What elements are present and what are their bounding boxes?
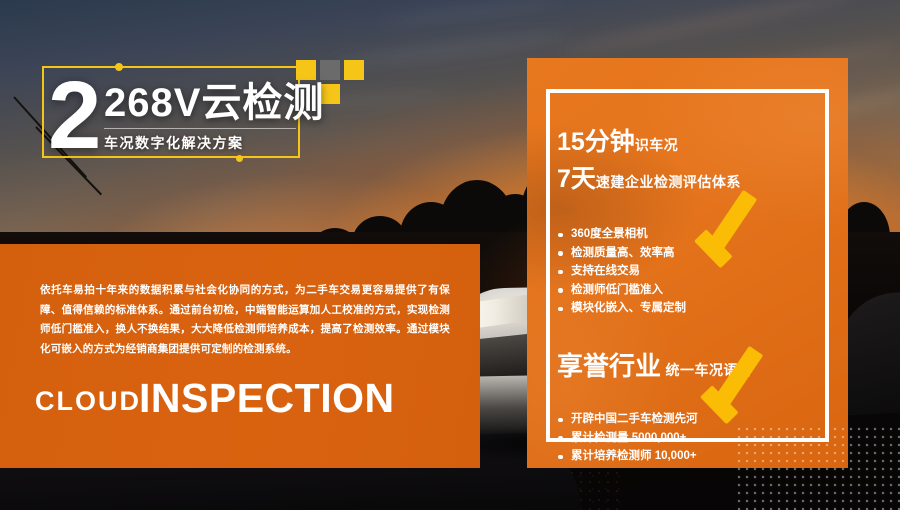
section2-bullet-list: 开辟中国二手车检测先河 累计检测量 5000,000+ 累计培养检测师 10,0… [558, 410, 698, 468]
list-item: 360度全景相机 [558, 225, 686, 244]
list-item: 支持在线交易 [558, 262, 686, 281]
slide-canvas: 2 268V云检测 车况数字化解决方案 依托车易拍十年来的数据积累与社会化协同的… [0, 0, 900, 510]
section-number: 2 [48, 68, 99, 164]
right-orange-panel: 15分钟识车况 7天速建企业检测评估体系 360度全景相机 检测质量高、效率高 … [527, 58, 848, 468]
page-subtitle: 车况数字化解决方案 [104, 133, 244, 153]
headline-secondary: 速建企业检测评估体系 [596, 174, 741, 190]
list-item: 累计检测量 5000,000+ [558, 429, 698, 448]
decorative-square [344, 60, 364, 80]
title-frame-border [222, 66, 300, 68]
decorative-square [320, 60, 340, 80]
list-item: 模块化嵌入、专属定制 [558, 299, 686, 318]
section1-bullet-list: 360度全景相机 检测质量高、效率高 支持在线交易 检测师低门槛准入 模块化嵌入… [558, 225, 686, 318]
list-item: 检测师低门槛准入 [558, 281, 686, 300]
section2-headline: 享誉行业 统一车况语言 [557, 346, 752, 383]
list-item: 检测质量高、效率高 [558, 244, 686, 263]
headline-secondary: 识车况 [635, 137, 679, 153]
decorative-square [296, 60, 316, 80]
headline-primary: 15分钟 [557, 128, 635, 156]
headline-primary: 享誉行业 [557, 351, 661, 381]
title-divider [104, 128, 296, 129]
section1-headline-1: 15分钟识车况 [557, 122, 678, 158]
list-item: 累计培养检测师 10,000+ [558, 447, 698, 466]
list-item: 开辟中国二手车检测先河 [558, 410, 698, 429]
frame-dot-marker [115, 63, 123, 71]
headline-primary: 7天 [557, 165, 596, 193]
list-item: 覆盖车型 95% [558, 466, 698, 469]
page-title: 268V云检测 [104, 80, 324, 126]
brand-word-cloud: CLOUD [35, 386, 141, 417]
brand-word-inspection: INSPECTION [139, 375, 395, 422]
section1-headline-2: 7天速建企业检测评估体系 [557, 159, 741, 195]
frame-dot-marker [236, 155, 243, 162]
left-body-text: 依托车易拍十年来的数据积累与社会化协同的方式，为二手车交易更容易提供了有保障、值… [40, 281, 450, 359]
